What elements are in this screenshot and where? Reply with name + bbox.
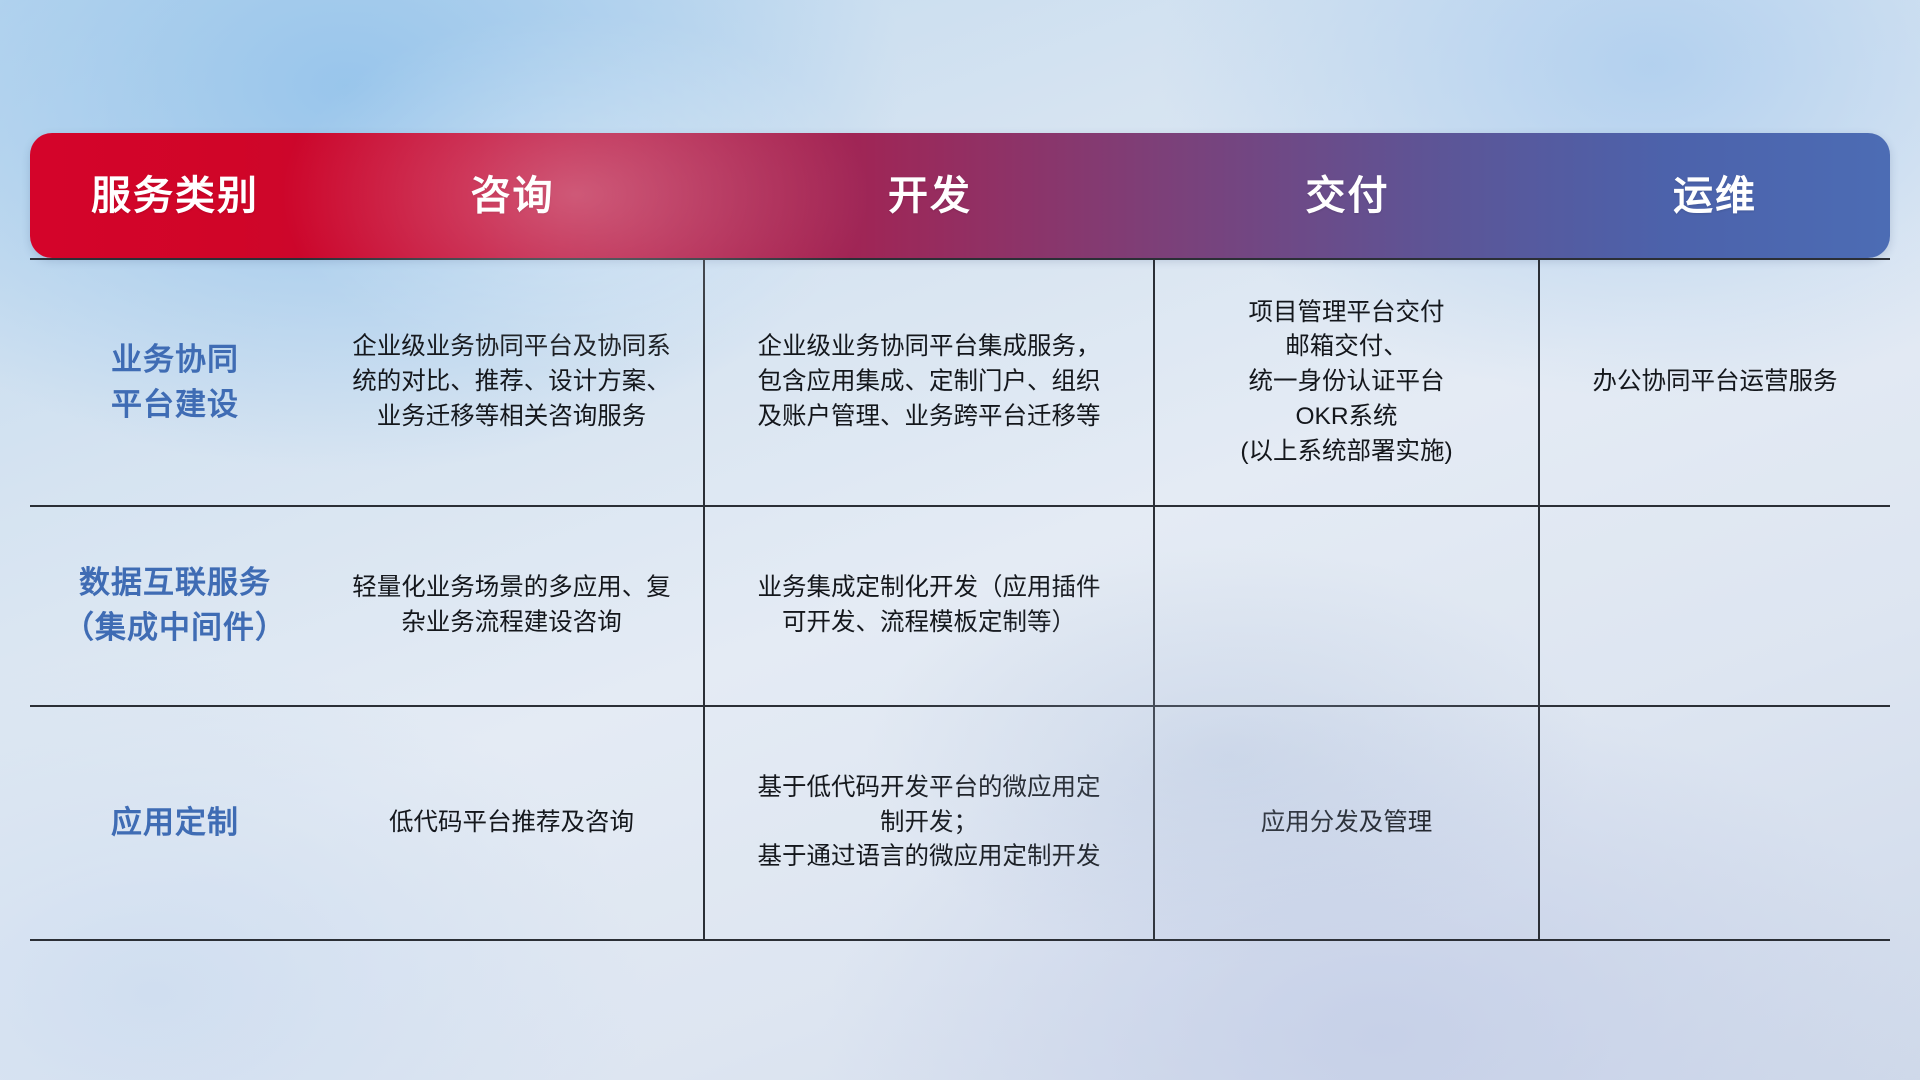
column-header-development: 开发 — [705, 176, 1155, 216]
column-header-category: 服务类别 — [30, 176, 320, 216]
table-header-bar: 服务类别 咨询 开发 交付 运维 — [30, 133, 1890, 258]
cell-development: 业务集成定制化开发（应用插件 可开发、流程模板定制等） — [705, 507, 1155, 705]
cell-consulting: 低代码平台推荐及咨询 — [320, 707, 705, 939]
cell-development: 基于低代码开发平台的微应用定 制开发； 基于通过语言的微应用定制开发 — [705, 707, 1155, 939]
cell-operations: 办公协同平台运营服务 — [1540, 260, 1890, 505]
table-row: 业务协同 平台建设 企业级业务协同平台及协同系 统的对比、推荐、设计方案、 业务… — [30, 258, 1890, 507]
column-header-operations: 运维 — [1540, 176, 1890, 216]
row-label-cell: 业务协同 平台建设 — [30, 260, 320, 505]
cell-delivery — [1155, 507, 1540, 705]
row-label-text: 应用定制 — [111, 801, 239, 846]
table-body: 业务协同 平台建设 企业级业务协同平台及协同系 统的对比、推荐、设计方案、 业务… — [30, 258, 1890, 941]
cell-delivery: 项目管理平台交付 邮箱交付、 统一身份认证平台 OKR系统 (以上系统部署实施) — [1155, 260, 1540, 505]
cell-consulting: 轻量化业务场景的多应用、复 杂业务流程建设咨询 — [320, 507, 705, 705]
table-row: 数据互联服务 （集成中间件） 轻量化业务场景的多应用、复 杂业务流程建设咨询 业… — [30, 507, 1890, 707]
cell-consulting: 企业级业务协同平台及协同系 统的对比、推荐、设计方案、 业务迁移等相关咨询服务 — [320, 260, 705, 505]
row-label-cell: 应用定制 — [30, 707, 320, 939]
cell-operations — [1540, 507, 1890, 705]
row-label-text: 数据互联服务 （集成中间件） — [63, 561, 287, 651]
service-matrix-table: 服务类别 咨询 开发 交付 运维 业务协同 平台建设 企业级业务协同平台及协同系… — [30, 133, 1890, 941]
column-header-consulting: 咨询 — [320, 176, 705, 216]
cell-operations — [1540, 707, 1890, 939]
cell-delivery: 应用分发及管理 — [1155, 707, 1540, 939]
column-header-delivery: 交付 — [1155, 176, 1540, 216]
row-label-cell: 数据互联服务 （集成中间件） — [30, 507, 320, 705]
row-label-text: 业务协同 平台建设 — [111, 338, 239, 428]
slide-canvas: 服务类别 咨询 开发 交付 运维 业务协同 平台建设 企业级业务协同平台及协同系… — [0, 0, 1920, 1080]
table-row: 应用定制 低代码平台推荐及咨询 基于低代码开发平台的微应用定 制开发； 基于通过… — [30, 707, 1890, 941]
cell-development: 企业级业务协同平台集成服务， 包含应用集成、定制门户、组织 及账户管理、业务跨平… — [705, 260, 1155, 505]
